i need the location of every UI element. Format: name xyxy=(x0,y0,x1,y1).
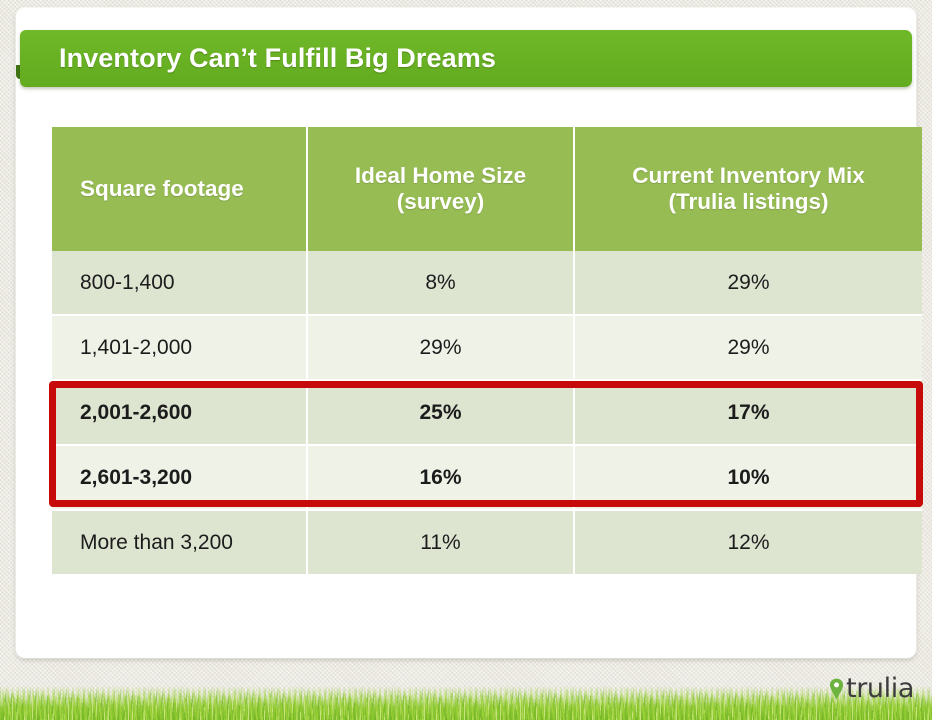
table-row-highlighted: 2,601-3,200 16% 10% xyxy=(52,446,922,511)
grass-blades-foreground xyxy=(0,694,932,720)
cell-square-footage: 2,601-3,200 xyxy=(52,446,308,511)
column-header-square-footage-text: Square footage xyxy=(80,176,244,201)
cell-square-footage: 1,401-2,000 xyxy=(52,316,308,381)
table-row: 1,401-2,000 29% 29% xyxy=(52,316,922,381)
column-header-inventory-line2: (Trulia listings) xyxy=(668,189,828,214)
cell-current-inventory-mix: 29% xyxy=(575,316,922,381)
cell-ideal-home-size: 11% xyxy=(308,511,575,574)
table-row: 800-1,400 8% 29% xyxy=(52,251,922,316)
cell-ideal-home-size: 16% xyxy=(308,446,575,511)
inventory-table: Square footage Ideal Home Size (survey) … xyxy=(52,127,922,574)
map-pin-icon xyxy=(829,678,844,700)
cell-current-inventory-mix: 29% xyxy=(575,251,922,316)
page-title: Inventory Can’t Fulfill Big Dreams xyxy=(20,43,496,74)
table-row: More than 3,200 11% 12% xyxy=(52,511,922,574)
table-body: 800-1,400 8% 29% 1,401-2,000 29% 29% 2,0… xyxy=(52,251,922,574)
cell-current-inventory-mix: 10% xyxy=(575,446,922,511)
cell-current-inventory-mix: 12% xyxy=(575,511,922,574)
column-header-current-inventory-mix: Current Inventory Mix (Trulia listings) xyxy=(575,127,922,251)
cell-ideal-home-size: 29% xyxy=(308,316,575,381)
column-header-ideal-line1: Ideal Home Size xyxy=(355,163,526,188)
column-header-ideal-home-size: Ideal Home Size (survey) xyxy=(308,127,575,251)
grass-strip-decoration xyxy=(0,686,932,720)
title-ribbon: Inventory Can’t Fulfill Big Dreams xyxy=(20,30,912,87)
cell-square-footage: 2,001-2,600 xyxy=(52,381,308,446)
column-header-ideal-line2: (survey) xyxy=(397,189,485,214)
cell-current-inventory-mix: 17% xyxy=(575,381,922,446)
column-header-square-footage: Square footage xyxy=(52,127,308,251)
table-header: Square footage Ideal Home Size (survey) … xyxy=(52,127,922,251)
content-card: Inventory Can’t Fulfill Big Dreams Squar… xyxy=(16,8,916,658)
cell-ideal-home-size: 25% xyxy=(308,381,575,446)
cell-ideal-home-size: 8% xyxy=(308,251,575,316)
trulia-wordmark: trulia xyxy=(846,675,914,702)
column-header-inventory-line1: Current Inventory Mix xyxy=(632,163,865,188)
table-row-highlighted: 2,001-2,600 25% 17% xyxy=(52,381,922,446)
cell-square-footage: More than 3,200 xyxy=(52,511,308,574)
cell-square-footage: 800-1,400 xyxy=(52,251,308,316)
trulia-logo: trulia xyxy=(829,675,914,702)
table-header-row: Square footage Ideal Home Size (survey) … xyxy=(52,127,922,251)
